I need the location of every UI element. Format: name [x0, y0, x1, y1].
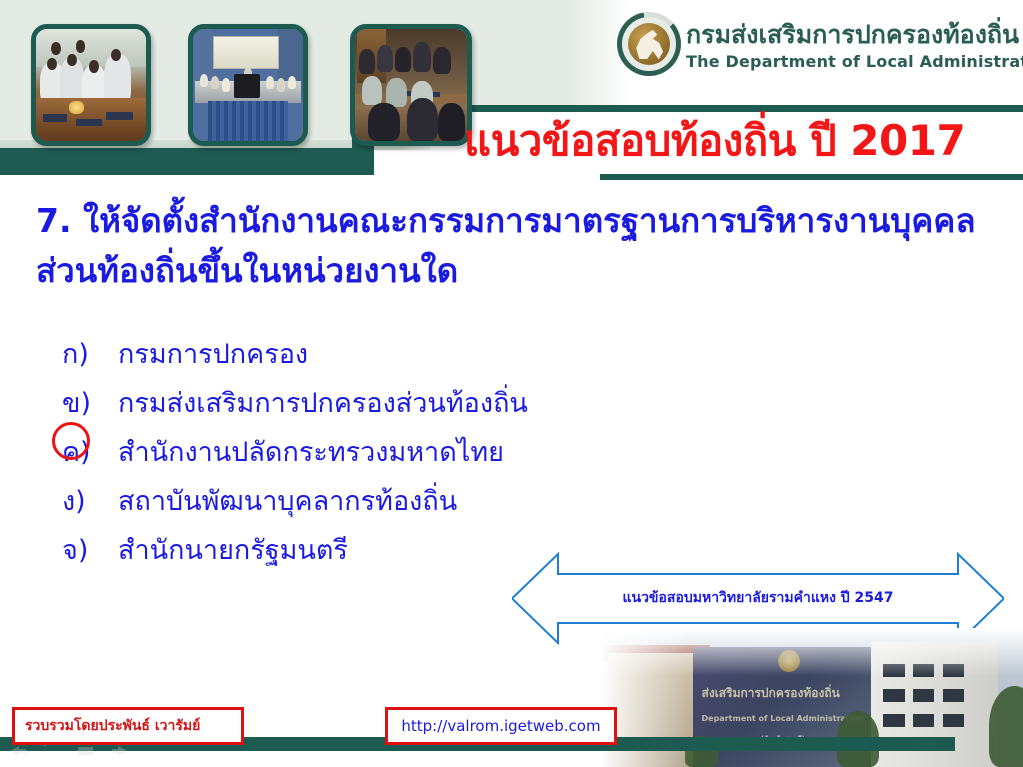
box-icon[interactable] — [76, 743, 96, 759]
question-text: 7. ให้จัดตั้งสำนักงานคณะกรรมการมาตรฐานกา… — [36, 196, 996, 296]
forward-arrow-icon[interactable] — [110, 743, 130, 759]
choice-item-kho-correct[interactable]: ค) สำนักงานปลัดกระทรวงมหาดไทย — [52, 430, 672, 479]
choice-item-ngo[interactable]: ง) สถาบันพัฒนาบุคลากรท้องถิ่น — [52, 479, 672, 528]
choice-list: ก) กรมการปกครอง ข) กรมส่งเสริมการปกครองส… — [52, 332, 672, 577]
pen-icon[interactable] — [42, 743, 62, 759]
green-band-left — [0, 148, 372, 175]
conference-hall-photo — [188, 24, 308, 146]
department-emblem-icon — [617, 12, 681, 76]
choice-label-ngo: ง) — [52, 479, 118, 522]
choice-text-kha: กรมส่งเสริมการปกครองส่วนท้องถิ่น — [118, 381, 672, 424]
department-name-thai: กรมส่งเสริมการปกครองท้องถิ่น — [686, 15, 1019, 55]
choice-item-ka[interactable]: ก) กรมการปกครอง — [52, 332, 672, 381]
choice-label-cho: จ) — [52, 528, 118, 571]
meeting-officials-photo — [31, 24, 151, 146]
url-text[interactable]: http://valrom.igetweb.com — [401, 717, 600, 735]
arrow-banner-text: แนวข้อสอบมหาวิทยาลัยรามคำแหง ปี 2547 — [512, 587, 1004, 609]
seminar-audience-photo — [350, 24, 472, 146]
department-name-english: The Department of Local Administration — [686, 52, 1023, 71]
choice-item-kha[interactable]: ข) กรมส่งเสริมการปกครองส่วนท้องถิ่น — [52, 381, 672, 430]
credit-text: รวบรวมโดยประพันธ์ เวารัมย์ — [25, 715, 200, 737]
choice-label-kha: ข) — [52, 381, 118, 424]
back-arrow-icon[interactable] — [8, 743, 28, 759]
url-box[interactable]: http://valrom.igetweb.com — [385, 707, 617, 745]
slide-root: กรมส่งเสริมการปกครองท้องถิ่น The Departm… — [0, 0, 1023, 767]
choice-text-ka: กรมการปกครอง — [118, 332, 672, 375]
credit-box: รวบรวมโดยประพันธ์ เวารัมย์ — [12, 707, 244, 745]
building-sign-thai: ส่งเสริมการปกครองท้องถิ่น — [702, 684, 871, 703]
choice-text-kho: สำนักงานปลัดกระทรวงมหาดไทย — [118, 430, 672, 473]
seminar-audience-photo-content — [355, 29, 467, 141]
choice-text-ngo: สถาบันพัฒนาบุคลากรท้องถิ่น — [118, 479, 672, 522]
choice-label-ka: ก) — [52, 332, 118, 375]
conference-hall-photo-content — [193, 29, 303, 141]
choice-label-kho: ค) — [52, 430, 118, 473]
slide-title: แนวข้อสอบท้องถิ่น ปี 2017 — [464, 113, 1004, 169]
meeting-officials-photo-content — [36, 29, 146, 141]
